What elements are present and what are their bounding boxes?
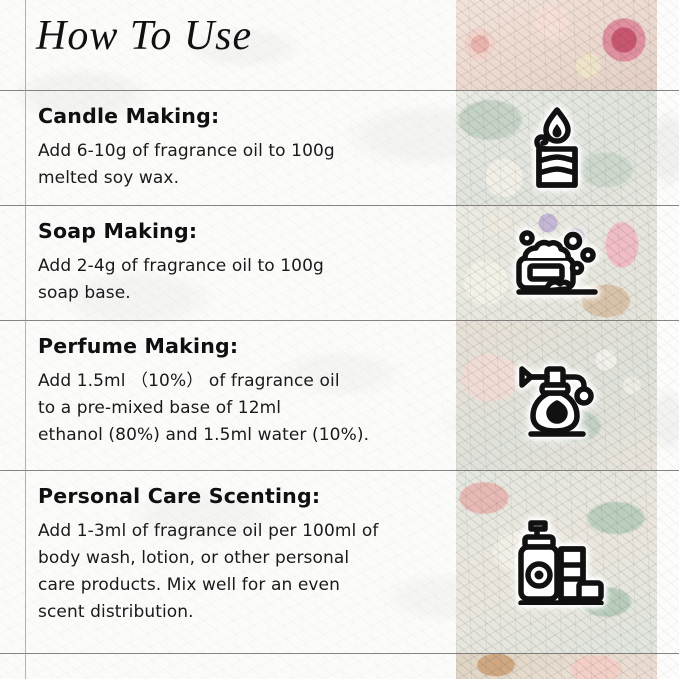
- photo-panel-roses-and-dried-flowers: [456, 0, 657, 90]
- section-heading: Perfume Making:: [38, 334, 443, 358]
- page-title: How To Use: [36, 12, 252, 60]
- perfume-atomizer-icon: [456, 320, 657, 470]
- section-heading: Candle Making:: [38, 104, 443, 128]
- candle-icon: [456, 90, 657, 205]
- soap-bar-icon: [456, 205, 657, 320]
- section-body-line: melted soy wax.: [38, 165, 443, 192]
- lotion-bottles-icon: [456, 470, 657, 653]
- section-body: Add 6-10g of fragrance oil to 100g melte…: [38, 138, 443, 192]
- section-body-line: soap base.: [38, 280, 443, 307]
- section-heading: Soap Making:: [38, 219, 443, 243]
- section-body-line: body wash, lotion, or other personal: [38, 545, 443, 572]
- section-body-line: ethanol (80%) and 1.5ml water (10%).: [38, 422, 443, 449]
- section-body: Add 1.5ml （10%） of fragrance oil to a pr…: [38, 368, 443, 449]
- section-perfume-making: Perfume Making: Add 1.5ml （10%） of fragr…: [38, 334, 443, 449]
- section-soap-making: Soap Making: Add 2-4g of fragrance oil t…: [38, 219, 443, 307]
- section-body: Add 1-3ml of fragrance oil per 100ml of …: [38, 518, 443, 626]
- section-personal-care-scenting: Personal Care Scenting: Add 1-3ml of fra…: [38, 484, 443, 626]
- how-to-use-infographic: How To Use Candle Making: Add 6-10g of f…: [0, 0, 679, 679]
- section-body-line: Add 6-10g of fragrance oil to 100g: [38, 138, 443, 165]
- section-body-line: scent distribution.: [38, 599, 443, 626]
- section-body: Add 2-4g of fragrance oil to 100g soap b…: [38, 253, 443, 307]
- section-body-line: to a pre-mixed base of 12ml: [38, 395, 443, 422]
- text-column: How To Use Candle Making: Add 6-10g of f…: [0, 0, 456, 679]
- section-body-line: care products. Mix well for an even: [38, 572, 443, 599]
- section-candle-making: Candle Making: Add 6-10g of fragrance oi…: [38, 104, 443, 192]
- image-icon-column: [456, 0, 657, 679]
- section-body-line: Add 1-3ml of fragrance oil per 100ml of: [38, 518, 443, 545]
- section-body-line: Add 1.5ml （10%） of fragrance oil: [38, 368, 443, 395]
- photo-panel-desk-flatlay: [456, 653, 657, 679]
- section-heading: Personal Care Scenting:: [38, 484, 443, 508]
- paper-edge-strip: [657, 0, 679, 679]
- section-body-line: Add 2-4g of fragrance oil to 100g: [38, 253, 443, 280]
